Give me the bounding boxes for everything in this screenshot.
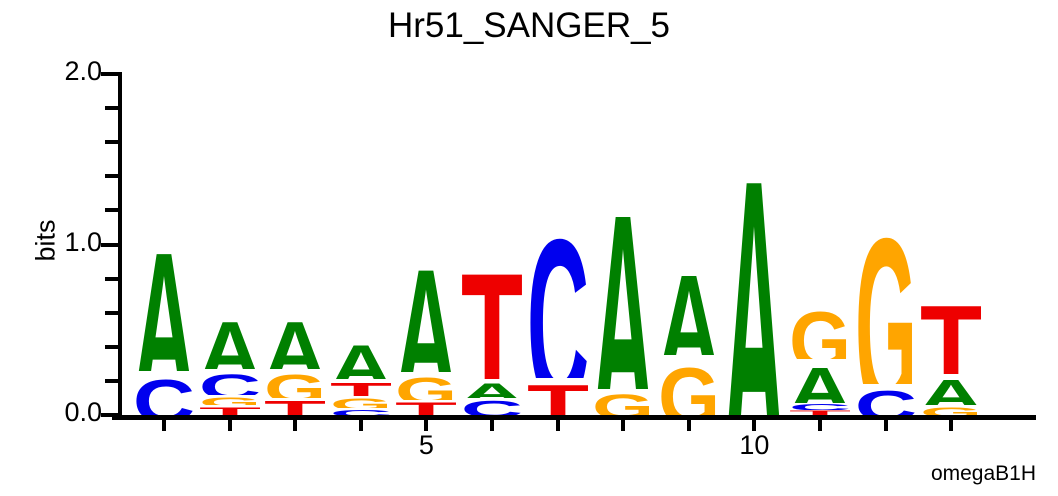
logo-letter-G-pos3: G [264, 369, 326, 398]
glyph-A: A [395, 243, 457, 373]
logo-letter-G-pos11: G [789, 299, 851, 359]
glyph-G: G [199, 395, 261, 405]
glyph-A: A [264, 309, 326, 369]
y-tick-minor [105, 174, 118, 178]
glyph-C: C [855, 384, 917, 415]
y-tick-major [101, 243, 118, 247]
logo-stack-12: GC [855, 74, 917, 415]
x-tick-8 [621, 420, 625, 431]
logo-letter-T-pos3: T [264, 398, 326, 415]
x-tick-3 [293, 420, 297, 431]
logo-stack-13: TAG [920, 74, 982, 415]
glyph-A: A [461, 379, 523, 398]
y-tick-minor [105, 140, 118, 144]
logo-letter-T-pos4: T [330, 379, 392, 396]
logo-letter-G-pos13: G [920, 405, 982, 415]
glyph-G: G [395, 372, 457, 399]
glyph-A: A [789, 359, 851, 403]
logo-letter-G-pos9: G [658, 355, 720, 415]
y-axis-tick-labels: 0.01.02.0 [14, 0, 102, 496]
logo-letter-A-pos1: A [133, 222, 195, 370]
watermark-label: omegaB1H [931, 462, 1036, 486]
logo-letter-A-pos2: A [199, 309, 261, 369]
logo-letter-A-pos8: A [592, 171, 654, 389]
logo-letter-A-pos6: A [461, 379, 523, 398]
logo-stack-3: AGT [264, 74, 326, 415]
x-tick-4 [359, 420, 363, 431]
logo-stack-2: ACGT [199, 74, 261, 415]
y-tick-minor [105, 379, 118, 383]
logo-letter-A-pos9: A [658, 255, 720, 356]
glyph-T: T [461, 246, 523, 379]
y-tick-major [101, 72, 118, 76]
logo-stack-1: AC [133, 74, 195, 415]
x-tick-12 [884, 420, 888, 431]
logo-letter-C-pos2: C [199, 369, 261, 395]
logo-stack-6: TAC [461, 74, 523, 415]
glyph-T: T [264, 398, 326, 415]
glyph-A: A [920, 374, 982, 405]
y-tick-label: 2.0 [30, 56, 102, 87]
logo-letter-C-pos7: C [527, 205, 589, 377]
y-tick-minor [105, 277, 118, 281]
logo-letter-T-pos2: T [199, 405, 261, 415]
logo-letter-G-pos8: G [592, 389, 654, 415]
glyph-C: C [133, 371, 195, 415]
logo-letter-C-pos1: C [133, 371, 195, 415]
glyph-C: C [527, 205, 589, 377]
logo-letter-A-pos11: A [789, 359, 851, 403]
y-tick-minor [105, 106, 118, 110]
glyph-C: C [199, 369, 261, 395]
logo-letter-G-pos4: G [330, 396, 392, 408]
glyph-A: A [658, 255, 720, 356]
glyph-T: T [199, 405, 261, 415]
glyph-C: C [461, 398, 523, 415]
x-tick-13 [949, 420, 953, 431]
x-tick-11 [818, 420, 822, 431]
y-tick-label: 0.0 [30, 397, 102, 428]
logo-letter-C-pos11: C [789, 403, 851, 410]
glyph-G: G [920, 405, 982, 415]
logo-letter-C-pos6: C [461, 398, 523, 415]
logo-letter-A-pos4: A [330, 337, 392, 380]
logo-plot-area: ACACGTAGTATGCAGTTACCTAGAGAGACTGCTAG [120, 74, 1030, 415]
logo-stack-5: AGT [395, 74, 457, 415]
glyph-G: G [264, 369, 326, 398]
glyph-G: G [855, 202, 917, 384]
glyph-T: T [920, 289, 982, 374]
glyph-A: A [723, 122, 785, 415]
logo-letter-C-pos4: C [330, 408, 392, 415]
logo-stack-9: AG [658, 74, 720, 415]
logo-letter-G-pos5: G [395, 372, 457, 399]
glyph-T: T [527, 378, 589, 416]
glyph-C: C [330, 408, 392, 415]
x-tick-label-5: 5 [396, 430, 456, 461]
glyph-T: T [395, 400, 457, 415]
glyph-A: A [592, 171, 654, 389]
x-tick-9 [687, 420, 691, 431]
logo-stack-8: AG [592, 74, 654, 415]
glyph-G: G [592, 389, 654, 415]
logo-letter-T-pos7: T [527, 378, 589, 416]
x-tick-2 [228, 420, 232, 431]
logo-letter-A-pos3: A [264, 309, 326, 369]
logo-letter-G-pos2: G [199, 395, 261, 405]
x-axis-line [112, 415, 1036, 420]
glyph-A: A [133, 222, 195, 370]
x-tick-7 [556, 420, 560, 431]
glyph-A: A [199, 309, 261, 369]
logo-letter-T-pos5: T [395, 400, 457, 415]
glyph-C: C [789, 403, 851, 410]
x-tick-6 [490, 420, 494, 431]
logo-stack-4: ATGC [330, 74, 392, 415]
sequence-logo-figure: Hr51_SANGER_5 bits 0.01.02.0 ACACGTAGTAT… [0, 0, 1058, 496]
glyph-G: G [789, 299, 851, 359]
logo-letter-T-pos13: T [920, 289, 982, 374]
glyph-G: G [658, 355, 720, 415]
y-tick-minor [105, 311, 118, 315]
glyph-A: A [330, 337, 392, 380]
y-tick-label: 1.0 [30, 227, 102, 258]
logo-stack-7: CT [527, 74, 589, 415]
x-tick-label-10: 10 [724, 430, 784, 461]
logo-letter-C-pos12: C [855, 384, 917, 415]
page-title: Hr51_SANGER_5 [0, 6, 1058, 46]
glyph-G: G [330, 396, 392, 408]
logo-letter-A-pos10: A [723, 122, 785, 415]
logo-stack-10: A [723, 74, 785, 415]
glyph-T: T [330, 379, 392, 396]
y-tick-minor [105, 345, 118, 349]
logo-stack-11: GACT [789, 74, 851, 415]
y-tick-minor [105, 208, 118, 212]
x-tick-1 [162, 420, 166, 431]
logo-letter-T-pos6: T [461, 246, 523, 379]
logo-letter-A-pos5: A [395, 243, 457, 373]
logo-letter-A-pos13: A [920, 374, 982, 405]
logo-letter-G-pos12: G [855, 202, 917, 384]
